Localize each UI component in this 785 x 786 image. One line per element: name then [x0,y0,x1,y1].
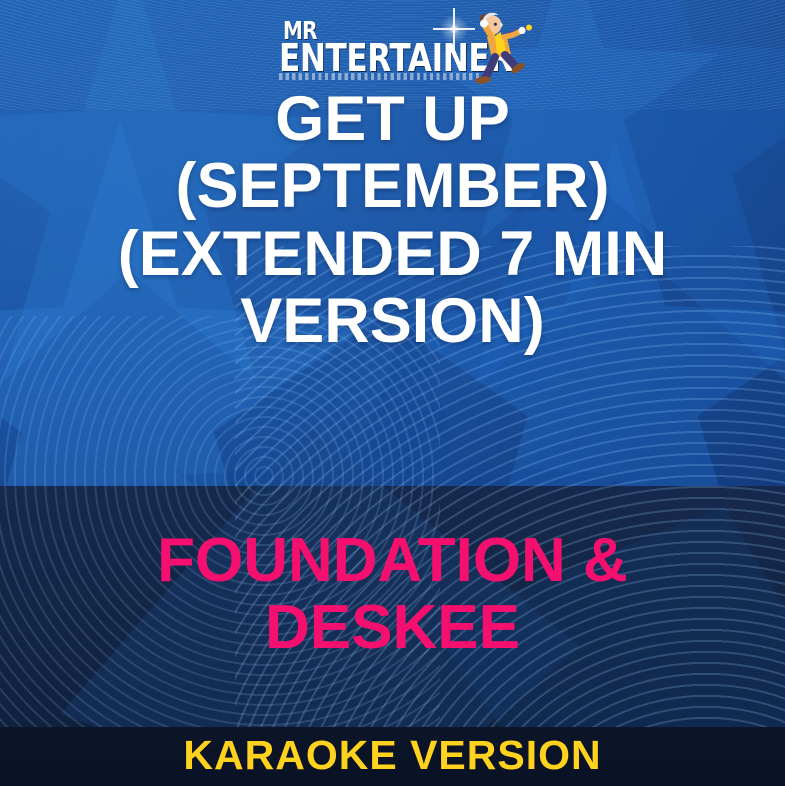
song-title-line-2: (SEPTEMBER) [40,153,745,220]
song-title: GET UP (SEPTEMBER) (EXTENDED 7 MIN VERSI… [40,86,745,356]
artist-name-line-1: FOUNDATION & [30,528,755,595]
album-cover: MR ENTERTAINER [0,0,785,786]
song-title-line-3: (EXTENDED 7 MIN [40,221,745,288]
karaoke-version-label: KARAOKE VERSION [0,735,785,776]
brand-logo: MR ENTERTAINER [0,6,785,88]
dancing-entertainer-icon [459,8,533,88]
artist-name-line-2: DESKEE [30,595,755,662]
artist-name: FOUNDATION & DESKEE [30,528,755,662]
song-title-line-4: VERSION) [40,288,745,355]
song-title-line-1: GET UP [40,86,745,153]
